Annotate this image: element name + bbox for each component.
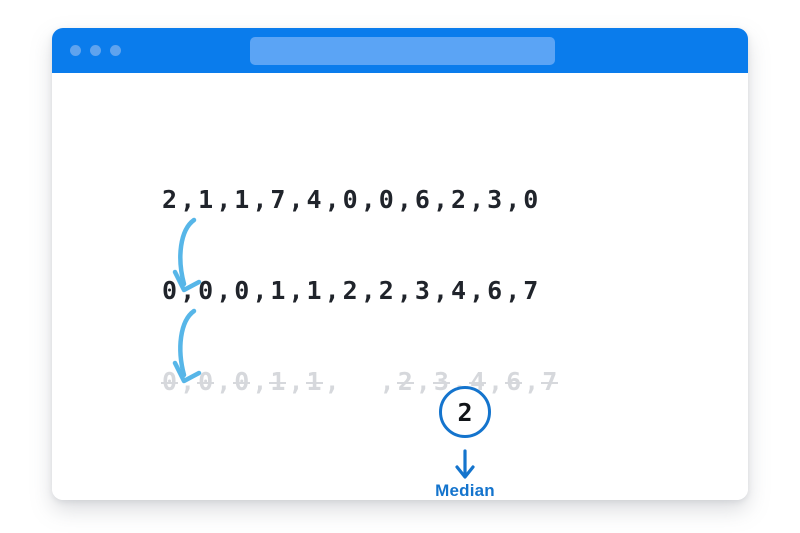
value-cell: 1 — [307, 367, 322, 396]
value-separator: , — [394, 276, 415, 305]
browser-titlebar — [52, 28, 748, 73]
screenshot-canvas: 2,1,1,7,4,0,0,6,2,3,0 0,0,0,1,1,2,2,3,4,… — [0, 0, 800, 533]
value-cell: 1 — [270, 276, 285, 305]
value-cell: 0 — [523, 185, 538, 214]
address-bar-input[interactable] — [250, 37, 555, 65]
value-cell: 0 — [379, 185, 394, 214]
value-cell: 6 — [487, 276, 502, 305]
value-cell: 2 — [162, 185, 177, 214]
value-cell: 1 — [307, 276, 322, 305]
value-separator: , — [177, 185, 198, 214]
value-separator: , — [322, 367, 343, 396]
value-separator: , — [358, 185, 379, 214]
median-label: Median — [382, 481, 548, 500]
value-cell: 0 — [162, 367, 177, 396]
value-separator: , — [285, 276, 306, 305]
value-separator: , — [213, 185, 234, 214]
minimize-dot-icon[interactable] — [90, 45, 101, 56]
value-separator: , — [485, 367, 506, 396]
value-cell: 0 — [198, 276, 213, 305]
value-cell: 2 — [398, 367, 413, 396]
value-separator: , — [502, 276, 523, 305]
value-cell: 7 — [542, 367, 557, 396]
value-cell: 2 — [451, 185, 466, 214]
browser-window: 2,1,1,7,4,0,0,6,2,3,0 0,0,0,1,1,2,2,3,4,… — [52, 28, 748, 500]
value-cell: 3 — [415, 276, 430, 305]
value-separator: , — [413, 367, 434, 396]
value-cell: 0 — [234, 276, 249, 305]
value-separator: , — [358, 276, 379, 305]
value-cell: 2 — [379, 276, 394, 305]
value-cell: 0 — [198, 367, 213, 396]
value-cell: 4 — [307, 185, 322, 214]
value-cell: 6 — [506, 367, 521, 396]
close-dot-icon[interactable] — [70, 45, 81, 56]
value-separator: , — [213, 367, 234, 396]
value-separator: , — [249, 276, 270, 305]
value-cell: 4 — [451, 276, 466, 305]
value-separator: , — [213, 276, 234, 305]
value-separator: , — [177, 367, 198, 396]
value-cell: 0 — [234, 367, 249, 396]
value-cell: 7 — [523, 276, 538, 305]
value-separator: , — [285, 185, 306, 214]
median-highlight-circle: 2 — [439, 386, 491, 438]
value-separator: , — [466, 276, 487, 305]
value-separator: , — [285, 367, 306, 396]
value-separator: , — [249, 367, 270, 396]
value-cell: 6 — [415, 185, 430, 214]
value-separator: , — [377, 367, 398, 396]
value-cell: 3 — [487, 185, 502, 214]
value-cell: 3 — [434, 367, 449, 396]
value-separator: , — [502, 185, 523, 214]
original-values-row: 2,1,1,7,4,0,0,6,2,3,0 — [162, 185, 722, 214]
value-cell: 7 — [270, 185, 285, 214]
value-separator: , — [466, 185, 487, 214]
sorted-values-row: 0,0,0,1,1,2,2,3,4,6,7 — [162, 276, 722, 305]
value-separator: , — [394, 185, 415, 214]
median-value: 2 — [457, 398, 472, 427]
value-cell: 1 — [234, 185, 249, 214]
window-controls[interactable] — [70, 45, 121, 56]
value-separator: , — [322, 185, 343, 214]
page-content: 2,1,1,7,4,0,0,6,2,3,0 0,0,0,1,1,2,2,3,4,… — [52, 73, 748, 500]
value-separator: , — [249, 185, 270, 214]
value-separator: , — [322, 276, 343, 305]
median-down-arrow-icon — [452, 449, 478, 481]
value-cell: 2 — [343, 276, 358, 305]
value-separator: , — [430, 276, 451, 305]
value-cell: 0 — [162, 276, 177, 305]
value-cell: 0 — [343, 185, 358, 214]
eliminated-values-row: 0,0,0,1,1,,2,3,4,6,7 — [162, 367, 722, 396]
value-cell: 1 — [270, 367, 285, 396]
value-separator: , — [177, 276, 198, 305]
value-separator: , — [430, 185, 451, 214]
value-cell: 1 — [198, 185, 213, 214]
maximize-dot-icon[interactable] — [110, 45, 121, 56]
value-separator: , — [521, 367, 542, 396]
